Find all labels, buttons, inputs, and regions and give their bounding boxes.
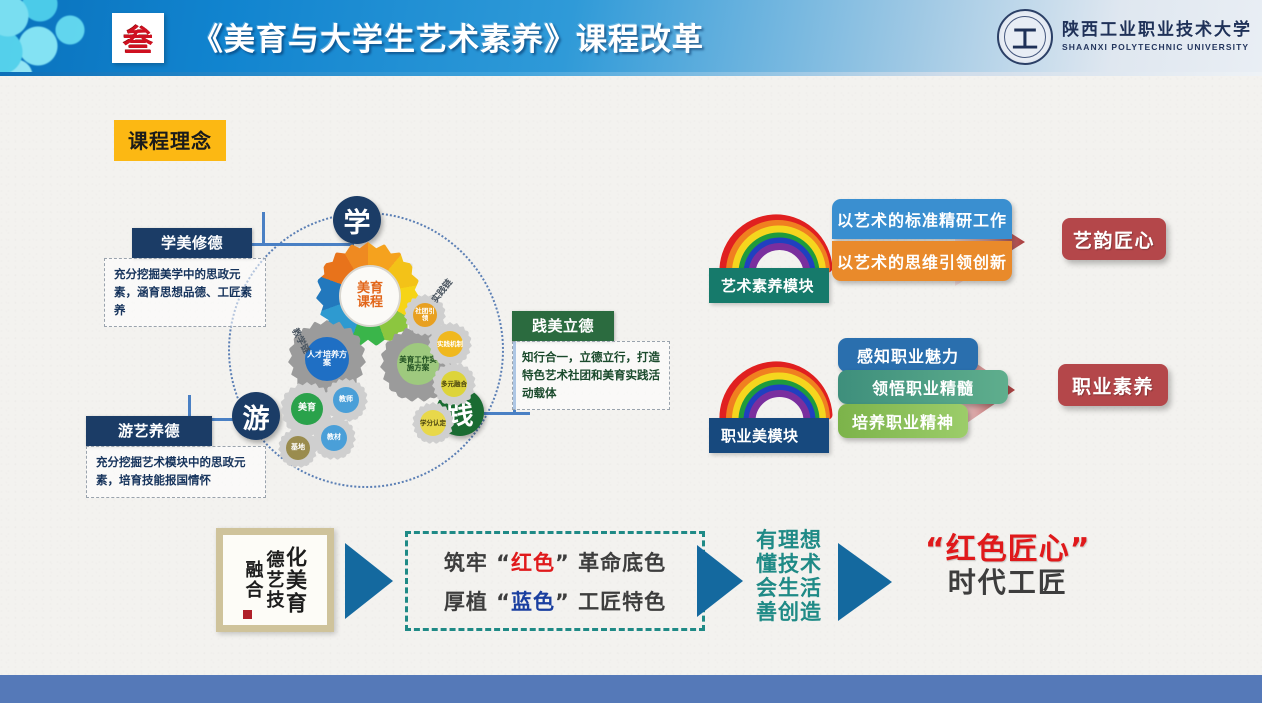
sub-gear-label-5: 基地	[291, 444, 305, 451]
module-result-vocational: 职业素养	[1058, 364, 1168, 406]
callout-xue-mei-xiu-de: 学美修德 充分挖掘美学中的思政元素，涵育思想品德、工匠素养	[104, 228, 234, 327]
sub-gear-hub-4: 教材	[321, 425, 347, 451]
callout-title-1: 游艺养德	[86, 416, 212, 446]
calligraphy-col-2: 德艺技	[265, 550, 283, 610]
final-slogan-line-1: “红色匠心”	[925, 533, 1090, 567]
logo-name-en: SHAANXI POLYTECHNIC UNIVERSITY	[1062, 43, 1252, 52]
logo-name-cn: 陕西工业职业技术大学	[1062, 22, 1252, 40]
callout-body-1: 充分挖掘艺术模块中的思政元素，培育技能报国情怀	[86, 446, 266, 498]
main-gear-line1: 美育	[357, 282, 383, 296]
calligraphy-plaque: 融合 德艺技 化美育	[216, 528, 334, 632]
sub-gear-hub-2: 美育	[291, 393, 323, 425]
sub-gear-label-2: 美育	[298, 404, 316, 413]
statement-2-pre: 厚植 “	[444, 590, 511, 614]
module-bar-art-1: 以艺术的思维引领创新	[832, 241, 1012, 281]
section-number-label: 叁	[123, 16, 153, 60]
sub-gear-label-9: 学分认定	[420, 420, 446, 427]
slide-canvas: 叁 《美育与大学生艺术素养》课程改革 工 陕西工业职业技术大学 SHAANXI …	[0, 0, 1262, 703]
statement-1-post: ” 革命底色	[555, 551, 666, 575]
logo-text: 陕西工业职业技术大学 SHAANXI POLYTECHNIC UNIVERSIT…	[1062, 22, 1252, 52]
dashed-statement-box: 筑牢 “红色” 革命底色 厚植 “蓝色” 工匠特色	[405, 531, 705, 631]
sub-gear-hub-5: 基地	[286, 436, 310, 460]
callout-you-yi-yang-de: 游艺养德 充分挖掘艺术模块中的思政元素，培育技能报国情怀	[86, 416, 261, 498]
module-label-vocational: 职业美模块	[709, 418, 829, 453]
gear-cluster: 美育 课程 人才培养方案 美育工作实施方案 美育 教师 教材 基地 社团引领	[280, 242, 490, 462]
sub-gear-label-3: 教师	[339, 396, 353, 403]
statement-1-pre: 筑牢 “	[444, 551, 511, 575]
callout-body-0: 充分挖掘美学中的思政元素，涵育思想品德、工匠素养	[104, 258, 266, 327]
rainbow-icon-vocational	[716, 345, 836, 423]
callout-title-2: 践美立德	[512, 311, 614, 341]
calligraphy-seal-icon	[243, 610, 252, 619]
flow-arrow-2	[697, 545, 743, 617]
connector-jian-horizontal	[484, 412, 530, 415]
sub-gear-label-0: 人才培养方案	[305, 351, 349, 368]
sub-gear-hub-7: 实践机制	[437, 331, 463, 357]
module-label-art: 艺术素养模块	[709, 268, 829, 303]
connector-xue-vertical	[262, 212, 265, 246]
sub-gear-label-4: 教材	[327, 434, 341, 441]
watercolor-cloud-decoration	[0, 0, 116, 76]
sub-gear-hub-0: 人才培养方案	[305, 337, 349, 381]
final-slogan-line-2: 时代工匠	[948, 567, 1068, 598]
statement-line-2: 厚植 “蓝色” 工匠特色	[444, 586, 666, 616]
trait-3: 善创造	[756, 600, 822, 624]
module-result-art: 艺韵匠心	[1062, 218, 1166, 260]
logo-emblem-icon: 工	[997, 9, 1053, 65]
slide-footer-bar	[0, 675, 1262, 703]
module-bar-vocational-2: 培养职业精神	[838, 404, 968, 438]
flow-arrow-1	[345, 543, 393, 619]
module-bar-vocational-1: 领悟职业精髓	[838, 370, 1008, 404]
section-badge-course-idea: 课程理念	[114, 120, 226, 161]
sub-gear-hub-3: 教师	[333, 387, 359, 413]
module-bar-art-0: 以艺术的标准精研工作	[832, 199, 1012, 239]
statement-line-1: 筑牢 “红色” 革命底色	[444, 547, 666, 577]
sub-gear-label-8: 多元融合	[441, 381, 467, 388]
calligraphy-col-1: 融合	[244, 560, 262, 600]
callout-title-0: 学美修德	[132, 228, 252, 258]
module-bar-vocational-0: 感知职业魅力	[838, 338, 978, 372]
calligraphy-col-3: 化美育	[286, 546, 307, 615]
slide-header: 叁 《美育与大学生艺术素养》课程改革 工 陕西工业职业技术大学 SHAANXI …	[0, 0, 1262, 76]
main-gear-line2: 课程	[357, 296, 383, 310]
trait-1: 懂技术	[756, 552, 822, 576]
chain-label-practice: 实践链	[428, 276, 455, 305]
callout-jian-mei-li-de: 践美立德 知行合一，立德立行，打造特色艺术社团和美育实践活动载体	[512, 311, 662, 410]
sub-gear-label-1: 美育工作实施方案	[397, 356, 439, 372]
statement-2-post: ” 工匠特色	[555, 590, 666, 614]
trait-0: 有理想	[756, 528, 822, 552]
four-traits-list: 有理想 懂技术 会生活 善创造	[756, 528, 822, 625]
rainbow-icon-art	[716, 198, 836, 276]
section-number-box: 叁	[112, 13, 164, 63]
sub-gear-label-7: 实践机制	[437, 341, 463, 348]
page-title: 《美育与大学生艺术素养》课程改革	[192, 14, 704, 59]
logo-emblem-glyph: 工	[1012, 19, 1038, 56]
statement-1-mark: 红色	[511, 551, 555, 575]
diagram-node-xue: 学	[333, 196, 381, 244]
sub-gear-label-6: 社团引领	[413, 308, 437, 322]
final-slogan: “红色匠心” 时代工匠	[925, 533, 1090, 598]
main-gear-hub: 美育 课程	[339, 265, 401, 327]
sub-gear-hub-9: 学分认定	[420, 410, 446, 436]
flow-arrow-3	[838, 543, 892, 621]
sub-gear-hub-6: 社团引领	[413, 303, 437, 327]
callout-body-2: 知行合一，立德立行，打造特色艺术社团和美育实践活动载体	[512, 341, 670, 410]
header-underline	[0, 72, 1262, 76]
sub-gear-hub-8: 多元融合	[441, 371, 467, 397]
statement-2-mark: 蓝色	[511, 590, 555, 614]
university-logo: 工 陕西工业职业技术大学 SHAANXI POLYTECHNIC UNIVERS…	[997, 8, 1252, 66]
trait-2: 会生活	[756, 576, 822, 600]
